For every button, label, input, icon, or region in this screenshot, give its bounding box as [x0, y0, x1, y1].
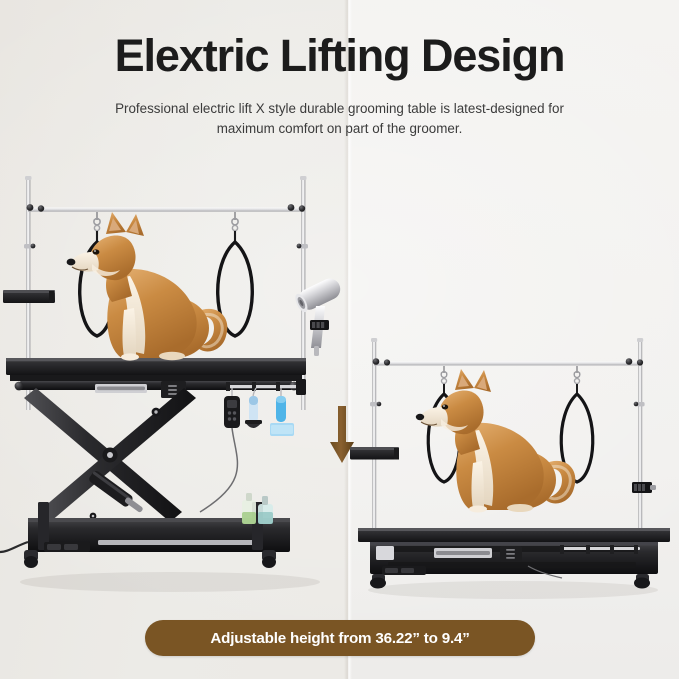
left-panel-illustration [0, 160, 348, 600]
foot-pedal [382, 566, 426, 575]
right-panel-illustration [348, 330, 679, 610]
scissor-frame [24, 388, 196, 522]
foot-pedal [44, 542, 90, 552]
tool-rail [226, 385, 302, 388]
tool-rail [560, 547, 640, 550]
slicker-brush [270, 388, 294, 436]
page-subtitle: Professional electric lift X style durab… [88, 99, 591, 139]
post-clamp [632, 482, 656, 493]
side-tray [3, 290, 55, 303]
height-range-text: Adjustable height from 36.22” to 9.4” [145, 620, 535, 656]
spray-bottle [258, 496, 273, 524]
product-feature-image: Elextric Lifting Design Professional ele… [0, 0, 679, 679]
casters [24, 550, 276, 568]
page-title: Elextric Lifting Design [0, 32, 679, 80]
remote-control [200, 388, 240, 512]
power-cord [0, 542, 28, 552]
side-tray [350, 447, 399, 460]
height-range-banner: Adjustable height from 36.22” to 9.4” [145, 620, 535, 656]
dog-shiba-inu [416, 369, 576, 513]
deshedding-tool [245, 388, 262, 428]
dog-shiba-inu [67, 212, 228, 361]
hair-dryer [293, 275, 344, 356]
remote-cord [200, 428, 237, 512]
shampoo-bottle [242, 493, 256, 524]
